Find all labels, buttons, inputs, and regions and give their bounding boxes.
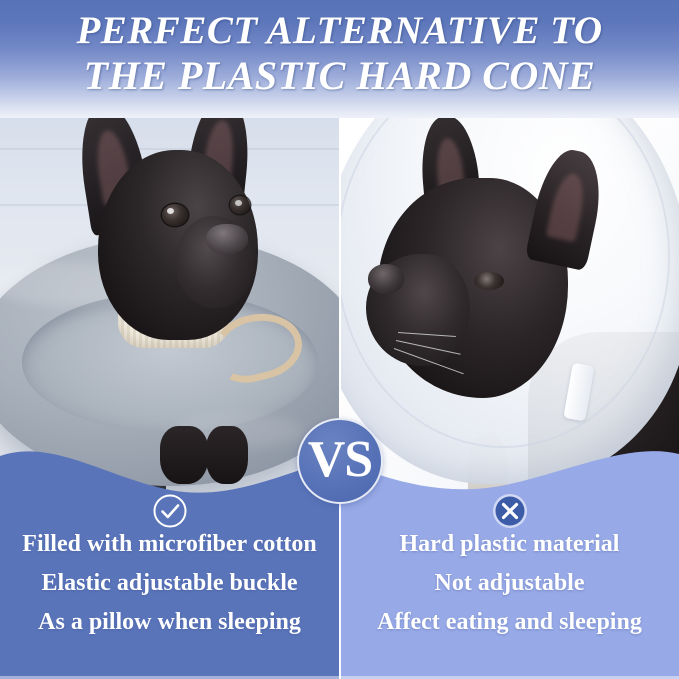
left-feature-list: Filled with microfiber cotton Elastic ad… xyxy=(0,525,339,642)
feature-item: Elastic adjustable buckle xyxy=(0,564,339,603)
eye-glint xyxy=(167,208,174,214)
feature-item: Not adjustable xyxy=(340,564,679,603)
check-circle-icon xyxy=(152,493,188,529)
left-feature-panel: Filled with microfiber cotton Elastic ad… xyxy=(0,420,339,679)
dog-nose-right xyxy=(368,264,404,294)
feature-item: Hard plastic material xyxy=(340,525,679,564)
vs-label: VS xyxy=(297,418,383,504)
dog-nose-left xyxy=(206,224,248,254)
dog-eye-left xyxy=(162,204,188,226)
product-comparison-infographic: PERFECT ALTERNATIVE TO THE PLASTIC HARD … xyxy=(0,0,679,679)
feature-item: Affect eating and sleeping xyxy=(340,603,679,642)
feature-item: Filled with microfiber cotton xyxy=(0,525,339,564)
right-feature-panel: Hard plastic material Not adjustable Aff… xyxy=(340,420,679,679)
dog-eye-right xyxy=(230,196,250,214)
dog-ear-inner xyxy=(546,171,589,243)
vs-badge: VS xyxy=(297,418,383,504)
feature-item: As a pillow when sleeping xyxy=(0,603,339,642)
right-feature-list: Hard plastic material Not adjustable Aff… xyxy=(340,525,679,642)
dog-eye-right xyxy=(474,272,504,290)
eye-glint xyxy=(235,200,242,206)
title-gradient-band xyxy=(0,0,679,118)
x-circle-icon xyxy=(492,493,528,529)
